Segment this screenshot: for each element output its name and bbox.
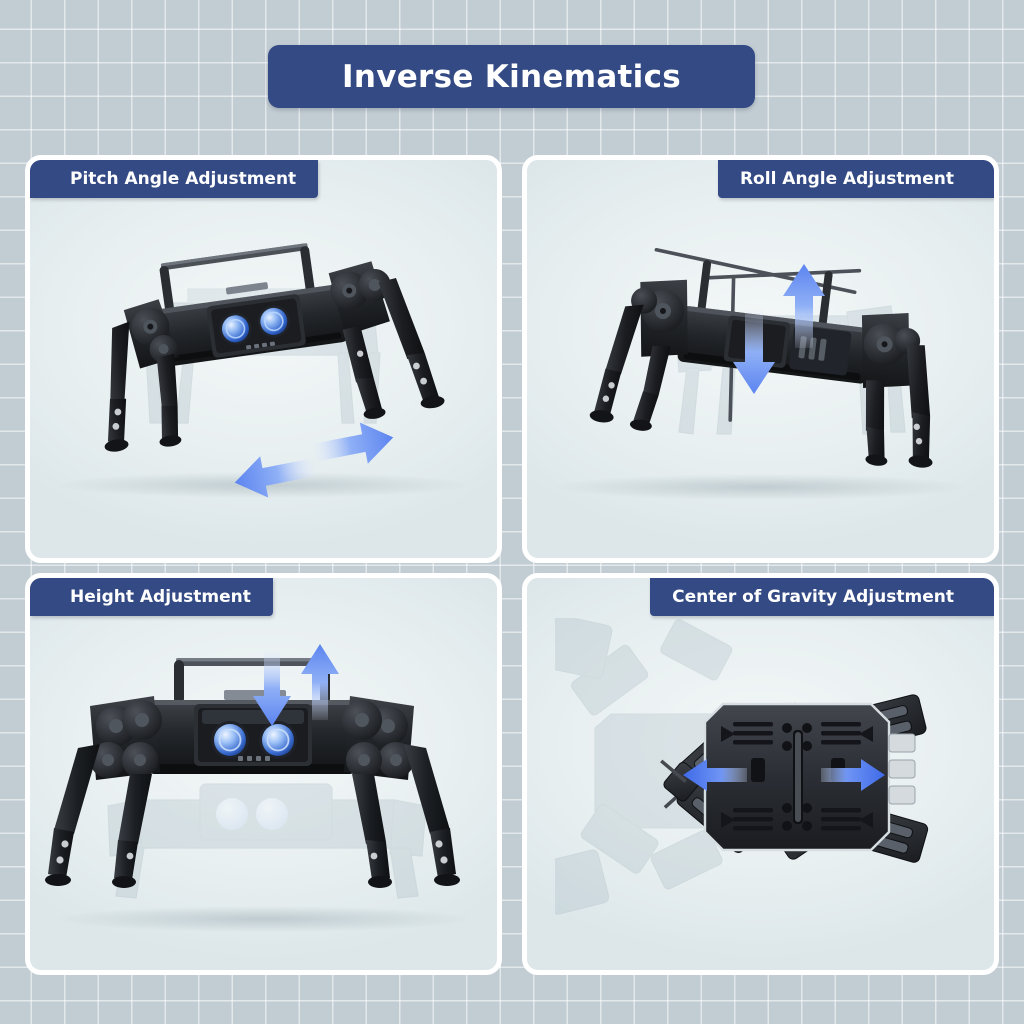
- robot-top-down-view-cog: [555, 618, 975, 938]
- arrow-up-icon: [296, 640, 344, 724]
- leg-left-outer: [45, 744, 100, 886]
- page-title-banner: Inverse Kinematics: [268, 45, 755, 108]
- panel-title-cog: Center of Gravity Adjustment: [672, 587, 954, 607]
- panel-title-roll: Roll Angle Adjustment: [740, 169, 954, 189]
- arrow-right-icon: [308, 418, 400, 472]
- panel-center-of-gravity-adjustment: Center of Gravity Adjustment: [522, 573, 999, 975]
- panel-header-height: Height Adjustment: [30, 578, 273, 616]
- arrow-right-icon: [817, 753, 889, 797]
- arrow-left-icon: [228, 448, 320, 502]
- arrow-left-icon: [679, 753, 751, 797]
- panel-pitch-angle-adjustment: Pitch Angle Adjustment: [25, 155, 502, 563]
- panel-roll-angle-adjustment: Roll Angle Adjustment: [522, 155, 999, 563]
- panel-title-height: Height Adjustment: [70, 587, 251, 607]
- panel-height-adjustment: Height Adjustment: [25, 573, 502, 975]
- arrow-down-icon: [248, 646, 296, 730]
- panel-header-pitch: Pitch Angle Adjustment: [30, 160, 318, 198]
- shoulder-right: [342, 696, 414, 780]
- panel-header-roll: Roll Angle Adjustment: [718, 160, 994, 198]
- panel-title-pitch: Pitch Angle Adjustment: [70, 169, 296, 189]
- page-title: Inverse Kinematics: [342, 59, 681, 95]
- arrow-down-icon: [727, 306, 781, 398]
- panel-header-cog: Center of Gravity Adjustment: [650, 578, 994, 616]
- arrow-up-icon: [777, 260, 831, 352]
- shoulder-left: [90, 696, 162, 780]
- leg-front-far: [589, 300, 644, 426]
- leg-rear-near: [378, 274, 445, 414]
